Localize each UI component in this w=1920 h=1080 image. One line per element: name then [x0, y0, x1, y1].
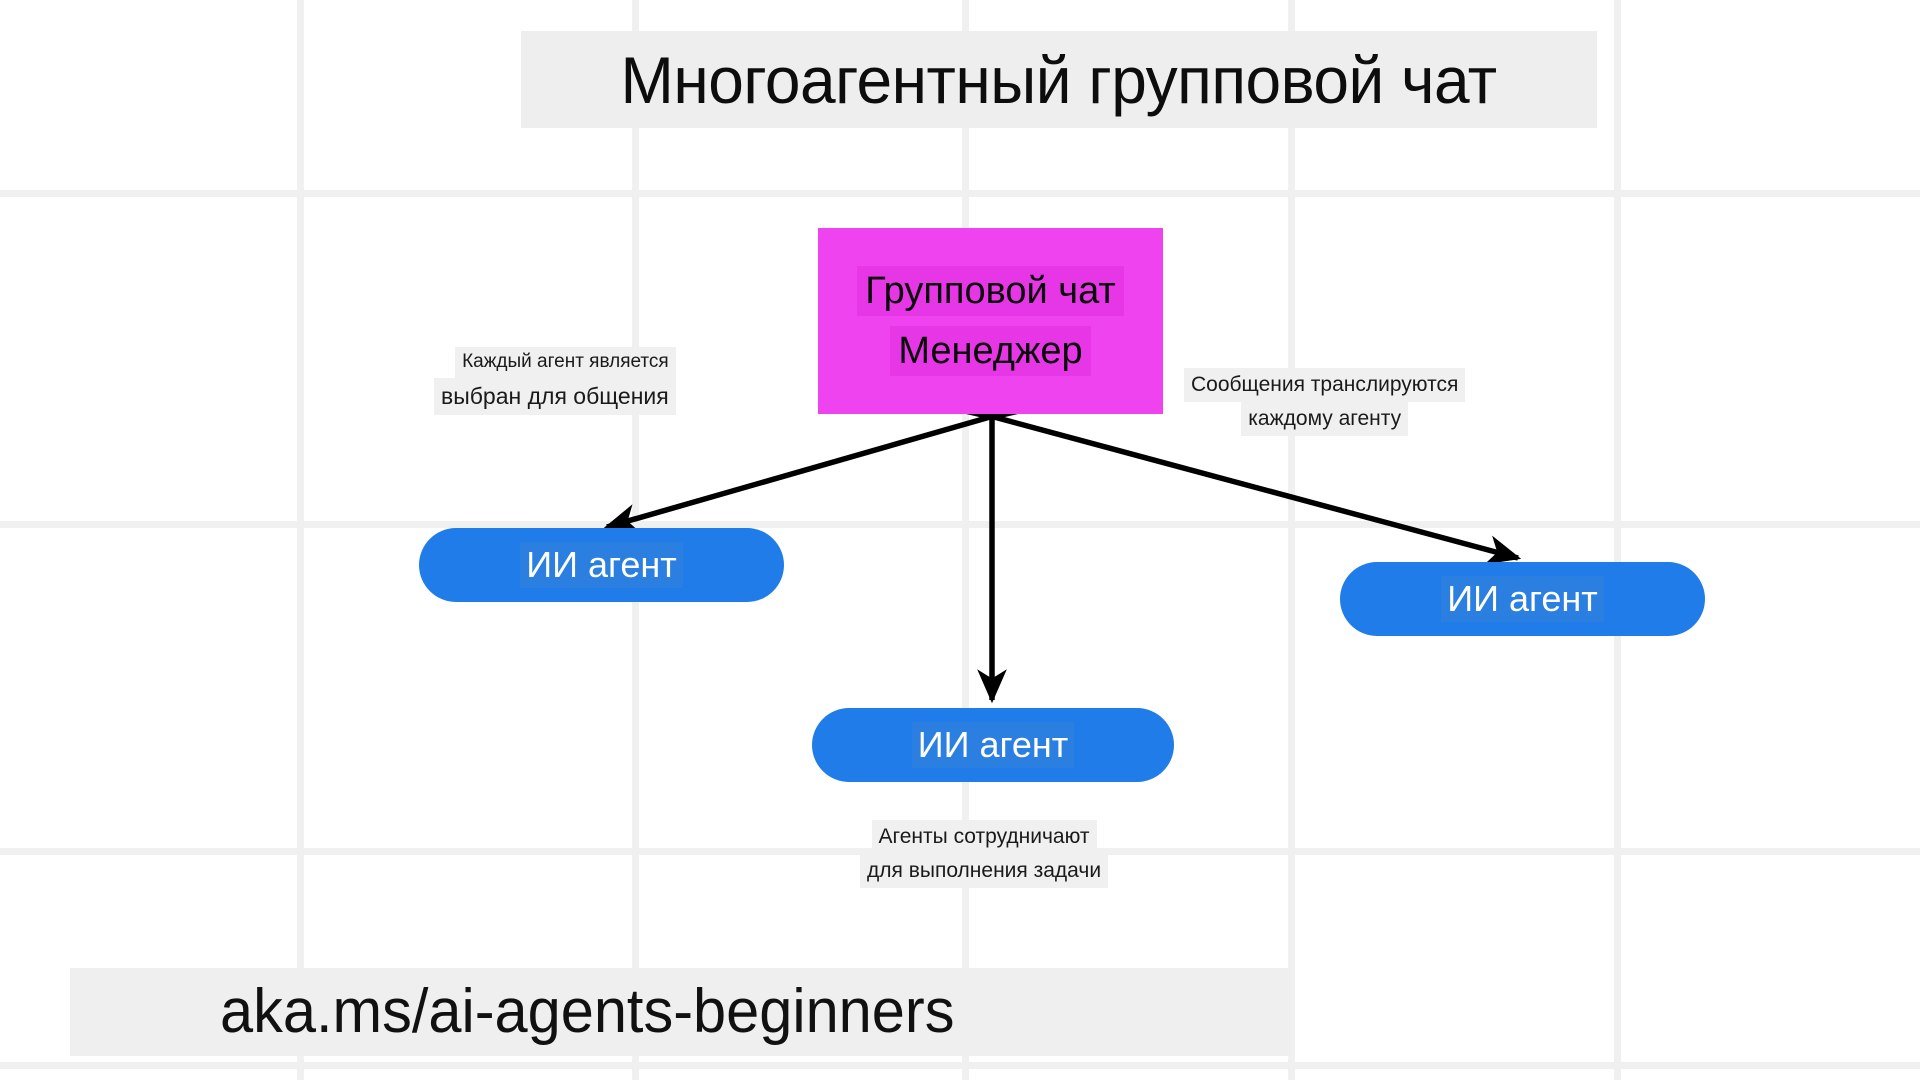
manager-title-line-2: Менеджер [890, 326, 1090, 376]
ai-agent-left[interactable]: ИИ агент [419, 528, 784, 602]
annotation-left: Каждый агент является выбран для общения [434, 347, 676, 415]
annotation-left-line-1: Каждый агент является [455, 347, 676, 378]
ai-agent-bottom-label: ИИ агент [912, 722, 1075, 769]
footer-url-block[interactable]: aka.ms/ai-agents-beginners [70, 968, 1292, 1056]
slide-canvas: Многоагентный групповой чат Групповой ча… [0, 0, 1920, 1080]
ai-agent-right-label: ИИ агент [1441, 576, 1604, 623]
manager-title-line-1: Групповой чат [857, 266, 1124, 316]
group-chat-manager-box[interactable]: Групповой чат Менеджер [818, 228, 1163, 414]
arrow-manager-to-left-agent [607, 417, 990, 527]
annotation-bottom-line-2: для выполнения задачи [860, 854, 1108, 888]
ai-agent-left-label: ИИ агент [520, 542, 683, 589]
grid-line-horizontal [0, 190, 1920, 197]
annotation-bottom-line-1: Агенты сотрудничают [872, 820, 1097, 854]
ai-agent-right[interactable]: ИИ агент [1340, 562, 1705, 636]
arrow-diagram [0, 0, 1920, 1080]
grid-line-vertical [1614, 0, 1621, 1080]
page-title: Многоагентный групповой чат [521, 31, 1597, 128]
page-title-text: Многоагентный групповой чат [621, 47, 1497, 113]
annotation-right-line-1: Сообщения транслируются [1184, 368, 1465, 402]
ai-agent-bottom[interactable]: ИИ агент [812, 708, 1174, 782]
annotation-right: Сообщения транслируются каждому агенту [1184, 368, 1465, 436]
grid-line-horizontal [0, 521, 1920, 528]
annotation-bottom: Агенты сотрудничают для выполнения задач… [860, 820, 1108, 888]
arrow-manager-to-right-agent [994, 417, 1518, 558]
grid-line-vertical [1288, 0, 1295, 1080]
annotation-right-line-2: каждому агенту [1241, 402, 1408, 436]
grid-line-vertical [962, 0, 969, 1080]
footer-url-text: aka.ms/ai-agents-beginners [220, 981, 954, 1043]
grid-line-vertical [297, 0, 304, 1080]
grid-line-horizontal [0, 1062, 1920, 1069]
annotation-left-line-2: выбран для общения [434, 378, 676, 415]
background-grid [0, 0, 1920, 1080]
